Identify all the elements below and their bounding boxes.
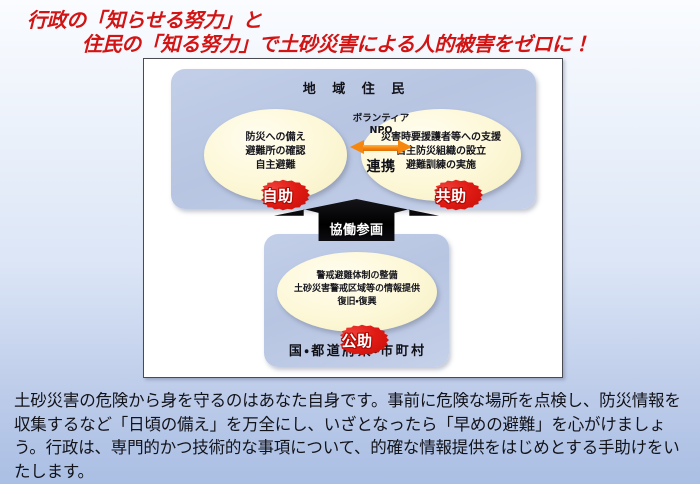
public-help-ellipse: 警戒避難体制の整備 土砂災害警戒区域等の情報提供 復旧・復興 — [277, 252, 437, 332]
residents-region-box: 地 域 住 民 防災への備え 避難所の確認 自主避難 災害時要援護者等への支援 … — [171, 69, 536, 209]
collaboration-arrow-label: 協働参画 — [274, 219, 439, 238]
mutual-help-badge: 共助 — [419, 179, 483, 211]
double-arrow-horizontal-icon — [350, 140, 412, 155]
self-help-badge: 自助 — [246, 179, 310, 211]
self-help-badge-label: 自助 — [262, 185, 293, 206]
mutual-help-badge-label: 共助 — [435, 185, 466, 206]
public-help-text: 警戒避難体制の整備 土砂災害警戒区域等の情報提供 復旧・復興 — [294, 270, 420, 309]
body-paragraph-text: 土砂災害の危険から身を守るのはあなた自身です。事前に危険な場所を点検し、防災情報… — [14, 389, 690, 483]
linkage-group: ボランティア NPO 連携 — [331, 113, 431, 176]
body-paragraph: 土砂災害の危険から身を守るのはあなた自身です。事前に危険な場所を点検し、防災情報… — [14, 389, 690, 483]
title-line-1: 行政の「知らせる努力」と — [0, 8, 700, 32]
linkage-label: 連携 — [331, 156, 431, 176]
public-help-badge: 公助 — [325, 324, 389, 356]
self-help-text: 防災への備え 避難所の確認 自主避難 — [246, 131, 306, 173]
public-help-badge-label: 公助 — [341, 330, 372, 351]
diagram-panel: 地 域 住 民 防災への備え 避難所の確認 自主避難 災害時要援護者等への支援 … — [143, 58, 563, 378]
residents-heading: 地 域 住 民 — [171, 78, 536, 97]
page-title: 行政の「知らせる努力」と 住民の「知る努力」で土砂災害による人的被害をゼロに！ — [0, 8, 700, 56]
title-line-2: 住民の「知る努力」で土砂災害による人的被害をゼロに！ — [0, 32, 700, 56]
npo-label: ボランティア NPO — [331, 113, 431, 137]
public-help-region-box: 警戒避難体制の整備 土砂災害警戒区域等の情報提供 復旧・復興 公助 国・都道府県… — [264, 234, 449, 367]
